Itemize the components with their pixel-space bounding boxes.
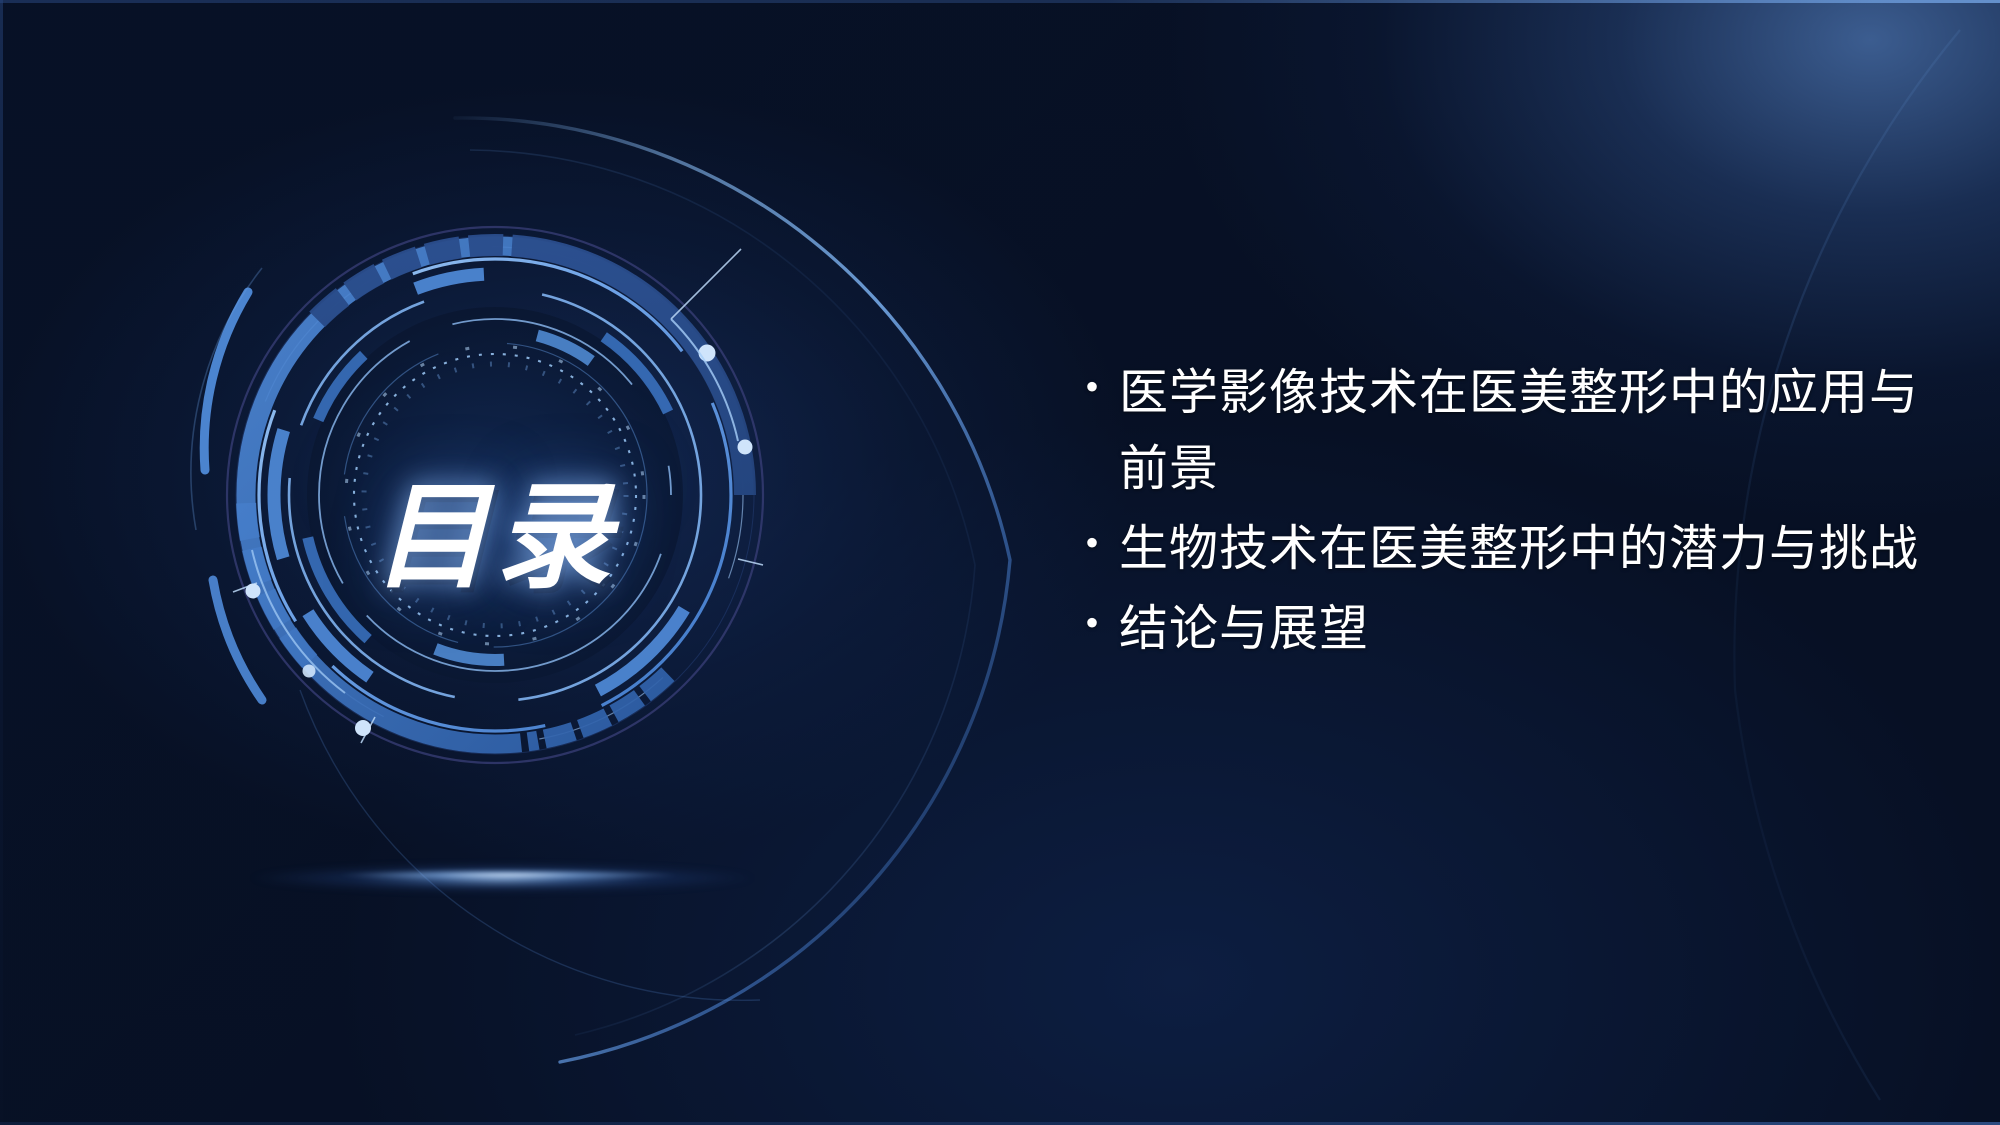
toc-item-1-label: 医学影像技术在医美整形中的应用与前景 [1119, 355, 1945, 507]
toc-item-2[interactable]: • 生物技术在医美整形中的潜力与挑战 [1085, 511, 1945, 587]
slide-left-edge-line [0, 0, 3, 1125]
toc-item-1[interactable]: • 医学影像技术在医美整形中的应用与前景 [1085, 355, 1945, 507]
bullet-icon: • [1085, 355, 1119, 420]
slide-top-edge-line [0, 0, 2000, 3]
toc-item-2-label: 生物技术在医美整形中的潜力与挑战 [1119, 511, 1945, 587]
under-ring-light-streak-core [250, 866, 720, 884]
bullet-icon: • [1085, 511, 1119, 576]
catalog-wordmark: 目录 [310, 480, 680, 596]
toc-item-3-label: 结论与展望 [1119, 591, 1945, 667]
bullet-icon: • [1085, 591, 1119, 656]
presentation-slide: 目录 • 医学影像技术在医美整形中的应用与前景 • 生物技术在医美整形中的潜力与… [0, 0, 2000, 1125]
table-of-contents-list: • 医学影像技术在医美整形中的应用与前景 • 生物技术在医美整形中的潜力与挑战 … [1085, 355, 1945, 671]
toc-item-3[interactable]: • 结论与展望 [1085, 591, 1945, 667]
